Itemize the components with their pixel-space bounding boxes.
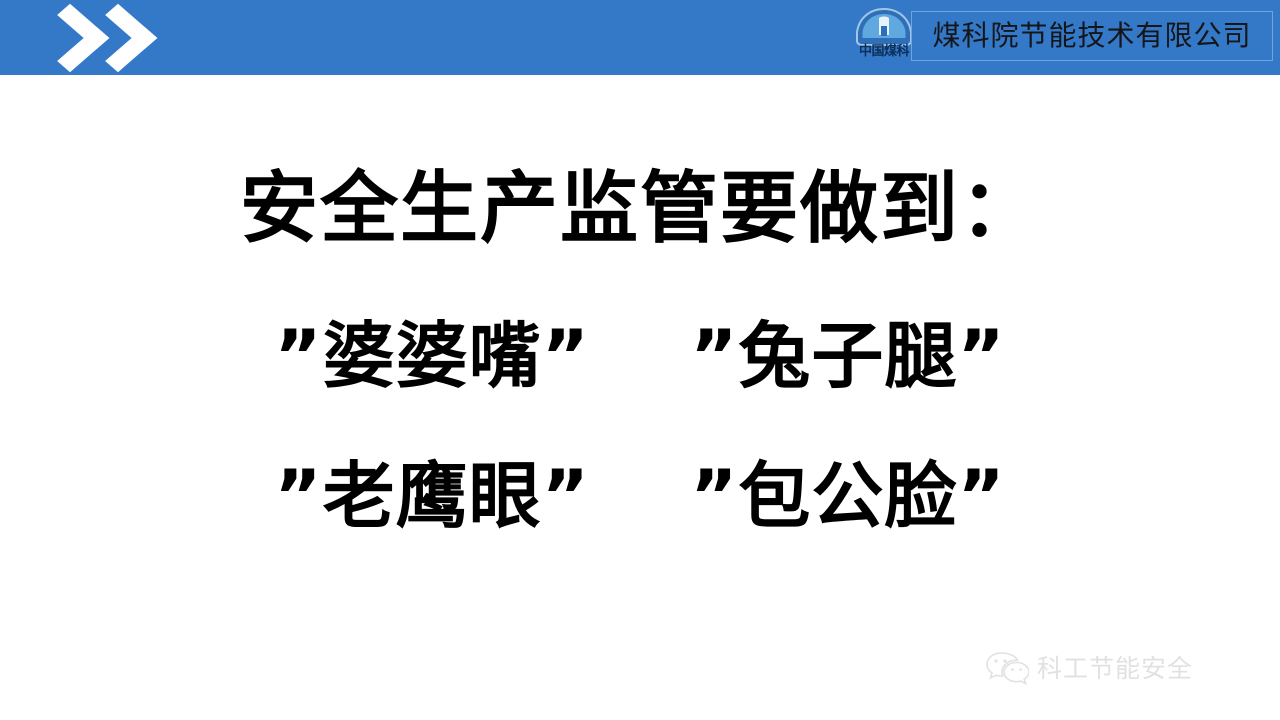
slide-content: 安全生产监管要做到： ”婆婆嘴” ”兔子腿” ”老鹰眼” ”包公脸” xyxy=(0,75,1280,720)
slide-title: 安全生产监管要做到： xyxy=(0,170,1280,248)
phrase-right-1: ”兔子腿” xyxy=(690,314,1006,398)
header-band: 中国煤科 煤科院节能技术有限公司 xyxy=(0,0,1280,75)
wechat-icon xyxy=(985,650,1029,686)
presentation-slide: 中国煤科 煤科院节能技术有限公司 安全生产监管要做到： ”婆婆嘴” ”兔子腿” … xyxy=(0,0,1280,720)
company-name-box[interactable]: 煤科院节能技术有限公司 xyxy=(911,11,1273,61)
phrase-left-2: ”老鹰眼” xyxy=(274,454,590,538)
china-coal-logo-icon xyxy=(854,8,914,46)
phrase-right-2: ”包公脸” xyxy=(690,454,1006,538)
company-name-label: 煤科院节能技术有限公司 xyxy=(932,22,1251,50)
phrase-row-1: ”婆婆嘴” ”兔子腿” xyxy=(0,320,1280,392)
watermark-label: 科工节能安全 xyxy=(1037,656,1193,681)
phrase-left-1: ”婆婆嘴” xyxy=(274,314,590,398)
phrase-row-2: ”老鹰眼” ”包公脸” xyxy=(0,460,1280,532)
watermark: 科工节能安全 xyxy=(985,646,1193,690)
chevron-right-icon xyxy=(79,3,158,71)
